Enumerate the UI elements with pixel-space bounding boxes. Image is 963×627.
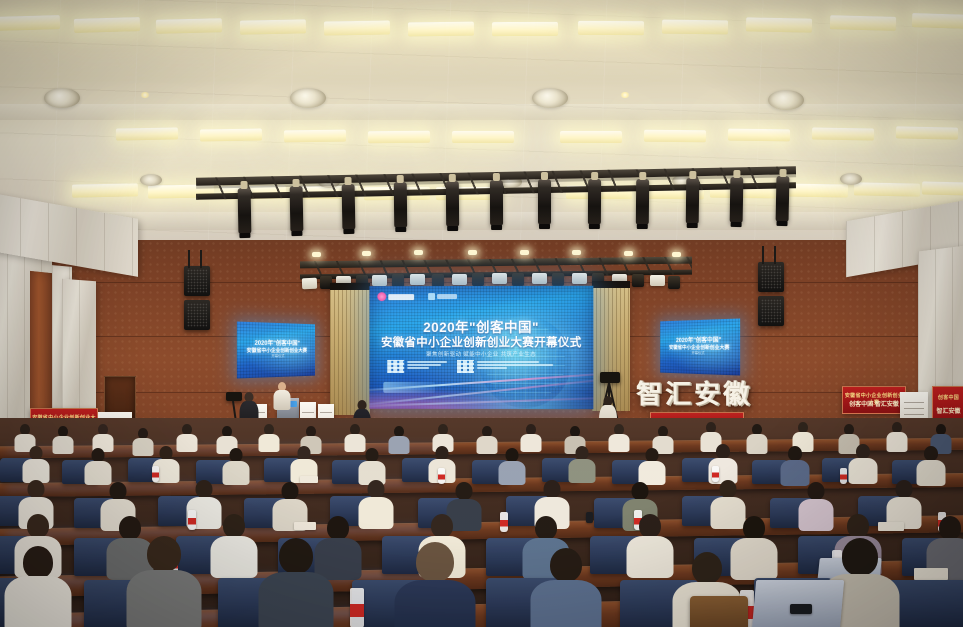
audience-member bbox=[176, 424, 198, 448]
audience-member-front bbox=[126, 536, 202, 627]
led-subtitle: 安徽省中小企业创新创业大赛开幕仪式 bbox=[369, 334, 593, 350]
stage-spotlight bbox=[538, 179, 551, 225]
moving-head-light bbox=[552, 273, 564, 286]
conference-hall-photo: 2020年"创客中国" 安徽省中小企业创新创业大赛开幕仪式 聚焦创新驱动 赋能中… bbox=[0, 0, 963, 627]
anhui-smes-logo-icon bbox=[428, 293, 457, 300]
par-can-light bbox=[372, 275, 387, 286]
side-screen-tagline: 开幕仪式 bbox=[237, 354, 315, 360]
poster-board-right bbox=[900, 392, 928, 420]
big-letter: 徽 bbox=[723, 381, 749, 407]
audience-member bbox=[92, 424, 114, 448]
par-can-light bbox=[492, 273, 507, 284]
side-screen-subtitle: 安徽省中小企业创新创业大赛 bbox=[237, 347, 315, 354]
stage-spotlight bbox=[238, 188, 252, 234]
ceiling bbox=[0, 0, 963, 268]
audience-member bbox=[432, 424, 454, 448]
wall-speaker-right-upper bbox=[758, 262, 784, 292]
stage-spotlight bbox=[342, 184, 356, 230]
stage-spotlight bbox=[686, 178, 700, 224]
banner-line-1: 创客中国 bbox=[933, 394, 963, 401]
audience-member-front-center bbox=[394, 542, 476, 627]
stage-spotlight bbox=[636, 179, 649, 225]
side-led-screen-right: 2020年"创客中国" 安徽省中小企业创新创业大赛 开幕仪式 bbox=[660, 318, 740, 375]
smartphone bbox=[586, 512, 593, 523]
audience-member bbox=[344, 424, 366, 448]
water-bottle bbox=[152, 466, 159, 482]
audience-member bbox=[608, 424, 630, 448]
audience-member-front bbox=[4, 546, 72, 627]
big-letter: 汇 bbox=[665, 381, 691, 407]
water-bottle bbox=[500, 512, 508, 532]
audience-member bbox=[222, 448, 250, 480]
audience-member-front bbox=[258, 538, 334, 627]
par-can-light bbox=[650, 275, 665, 286]
audience-member bbox=[746, 424, 768, 450]
audience-area bbox=[0, 418, 963, 627]
par-can-light bbox=[572, 273, 587, 284]
moving-head-light bbox=[432, 274, 444, 287]
water-bottle bbox=[438, 468, 445, 484]
big-letter: 安 bbox=[694, 381, 720, 407]
water-bottle bbox=[350, 588, 364, 627]
audience-member bbox=[916, 446, 946, 480]
audience-member bbox=[14, 424, 36, 448]
speaker-at-podium bbox=[272, 382, 292, 408]
ceiling-soffit-upper bbox=[0, 104, 963, 120]
audience-member bbox=[358, 448, 386, 480]
audience-member bbox=[886, 480, 922, 524]
moving-head-light bbox=[668, 276, 680, 289]
audience-member bbox=[22, 446, 50, 478]
audience-member bbox=[210, 514, 258, 572]
side-screen-tagline: 开幕仪式 bbox=[660, 351, 740, 357]
audience-member bbox=[272, 482, 308, 526]
par-can-light bbox=[532, 273, 547, 284]
par-can-light bbox=[452, 274, 467, 285]
notepad bbox=[294, 522, 316, 530]
audience-member bbox=[84, 448, 112, 480]
wall-speaker-right-lower bbox=[758, 296, 784, 326]
audience-member bbox=[792, 422, 814, 448]
audience-member bbox=[626, 514, 674, 572]
audience-member bbox=[886, 422, 908, 448]
smartphone-front bbox=[790, 604, 812, 614]
audience-member bbox=[780, 446, 810, 480]
moving-head-light bbox=[392, 274, 404, 287]
banner-line-2: 创客中国 智汇安徽 bbox=[843, 399, 905, 408]
audience-member bbox=[520, 424, 542, 448]
stage-spotlight bbox=[588, 179, 601, 225]
audience-member bbox=[388, 426, 410, 450]
side-led-screen-left: 2020年"创客中国" 安徽省中小企业创新创业大赛 开幕仪式 bbox=[237, 322, 315, 379]
audience-member bbox=[926, 516, 963, 574]
audience-member bbox=[52, 426, 74, 450]
audience-member bbox=[798, 482, 834, 526]
video-camera-right bbox=[600, 372, 620, 383]
main-led-screen: 2020年"创客中国" 安徽省中小企业创新创业大赛开幕仪式 聚焦创新驱动 赋能中… bbox=[369, 286, 593, 409]
audience-member-front bbox=[530, 548, 602, 627]
par-can-light bbox=[302, 278, 317, 290]
banner-line-2: 智汇安徽 bbox=[933, 406, 963, 415]
stage-spotlight bbox=[394, 182, 407, 228]
led-tagline: 聚焦创新驱动 赋能中小企业 共筑产业生态 bbox=[369, 350, 593, 358]
handbag bbox=[690, 596, 748, 627]
stage-big-letters: 智 汇 安 徽 bbox=[636, 381, 749, 407]
stage-spotlight bbox=[490, 180, 503, 226]
wall-speaker-left-lower bbox=[184, 300, 210, 330]
audience-member bbox=[258, 424, 280, 448]
stage-spotlight bbox=[446, 181, 459, 227]
audience-member bbox=[290, 446, 318, 478]
audience-member bbox=[358, 480, 394, 524]
video-camera-left bbox=[226, 392, 242, 401]
audience-member bbox=[216, 426, 238, 450]
audience-member bbox=[568, 446, 596, 478]
audience-member bbox=[476, 426, 498, 450]
ceiling-soffit-lower bbox=[0, 212, 963, 230]
stage-spotlight bbox=[730, 177, 744, 223]
maker-china-logo-icon bbox=[377, 292, 414, 301]
moving-head-light bbox=[512, 273, 524, 286]
led-screen-logos bbox=[377, 292, 457, 301]
stage-spotlight bbox=[776, 176, 790, 222]
audience-member bbox=[848, 444, 878, 478]
water-bottle bbox=[188, 510, 196, 530]
big-letter: 智 bbox=[636, 381, 662, 407]
moving-head-light bbox=[472, 273, 484, 286]
light-ribbon-graphic bbox=[369, 371, 593, 409]
audience-member bbox=[652, 426, 674, 450]
wall-speaker-left-upper bbox=[184, 266, 210, 296]
notepad bbox=[914, 568, 948, 580]
audience-member bbox=[498, 448, 526, 480]
banner-stage-right: 安徽省中小企业创新创业大赛 创客中国 智汇安徽 bbox=[842, 386, 906, 414]
water-bottle bbox=[840, 468, 847, 484]
par-can-light bbox=[410, 274, 425, 285]
stage-curtain-left bbox=[330, 283, 370, 415]
audience-member bbox=[638, 448, 666, 480]
audience-member bbox=[132, 428, 154, 452]
moving-head-light bbox=[632, 274, 644, 287]
stage-spotlight bbox=[290, 186, 304, 232]
side-screen-subtitle: 安徽省中小企业创新创业大赛 bbox=[660, 344, 740, 351]
